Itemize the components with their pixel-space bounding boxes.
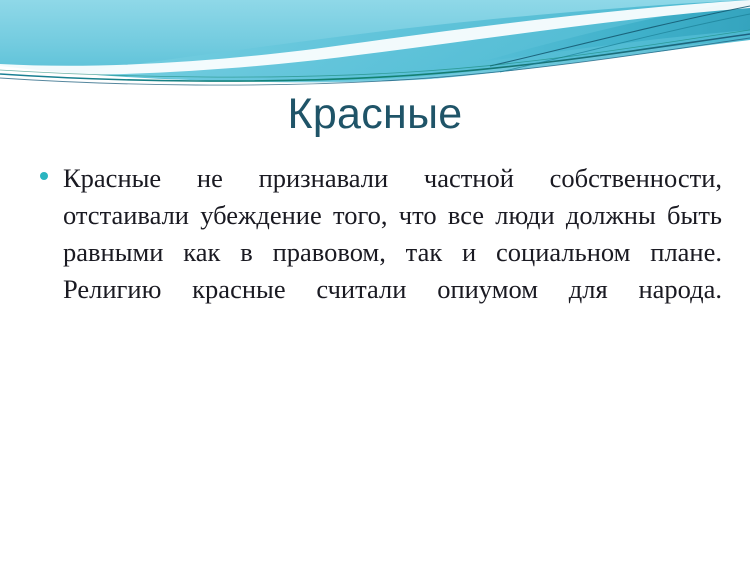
title-block: Красные [0, 92, 750, 137]
wave-base-band [0, 0, 750, 82]
wave-deep-band [480, 0, 750, 62]
presentation-slide: Красные Красные не признавали частной со… [0, 0, 750, 561]
wave-accent-line-1 [0, 34, 750, 81]
wave-mid-band [80, 0, 750, 82]
wave-white-base [0, 40, 750, 96]
wave-accent-line-2 [0, 38, 750, 85]
list-item: Красные не признавали частной собственно… [30, 160, 722, 345]
teal-wave-banner [0, 0, 750, 96]
wave-accent-line-4 [500, 14, 750, 72]
bullet-list: Красные не признавали частной собственно… [30, 160, 722, 345]
body-content: Красные не признавали частной собственно… [30, 160, 722, 357]
wave-accent-line-5 [0, 30, 750, 77]
wave-white-ribbon [0, 0, 750, 75]
wave-accent-line-3 [490, 6, 750, 66]
page-title: Красные [0, 92, 750, 137]
bullet-text: Красные не признавали частной собственно… [63, 160, 722, 345]
bullet-dot-icon [40, 172, 48, 180]
